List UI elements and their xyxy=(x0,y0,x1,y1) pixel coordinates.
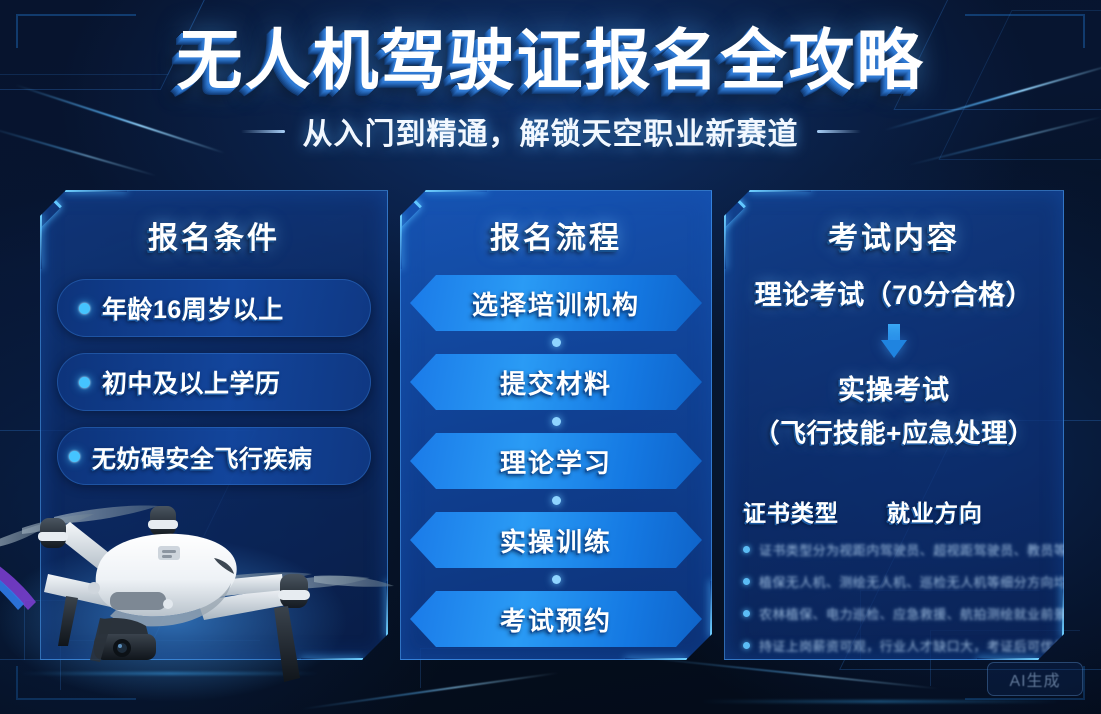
card-exam-content: 考试内容 理论考试（70分合格） 实操考试 （飞行技能+应急处理） 证书类型 就… xyxy=(724,190,1064,660)
process-step[interactable]: 理论学习 xyxy=(407,433,705,489)
bullet-dot-icon xyxy=(743,546,750,553)
step-connector-dot-icon xyxy=(552,417,561,426)
process-step[interactable]: 实操训练 xyxy=(407,512,705,568)
list-item: 持证上岗薪资可观，行业人才缺口大，考证后可优先推荐就业 xyxy=(743,636,1045,655)
process-step[interactable]: 考试预约 xyxy=(407,591,705,647)
exam-fine-print-list: 证书类型分为视距内驾驶员、超视距驾驶员、教员等级 植保无人机、测绘无人机、巡检无… xyxy=(725,540,1063,655)
poster-root: 无人机驾驶证报名全攻略 从入门到精通，解锁天空职业新赛道 报名条件 年龄16周岁… xyxy=(0,0,1101,714)
bevel-accent-icon xyxy=(65,189,127,192)
subtitle-row: 从入门到精通，解锁天空职业新赛道 xyxy=(0,109,1101,153)
condition-label: 初中及以上学历 xyxy=(102,364,281,400)
subcolumn-header-cert-type: 证书类型 xyxy=(743,494,839,528)
subtitle-dash-left xyxy=(241,130,285,133)
card-title-process: 报名流程 xyxy=(401,213,711,257)
list-item: 证书类型分为视距内驾驶员、超视距驾驶员、教员等级 xyxy=(743,540,1045,559)
condition-label: 无妨碍安全飞行疾病 xyxy=(92,439,313,474)
conditions-list: 年龄16周岁以上 初中及以上学历 无妨碍安全飞行疾病 xyxy=(41,279,387,485)
card-title-exam: 考试内容 xyxy=(725,213,1063,257)
exam-practical-detail: （飞行技能+应急处理） xyxy=(739,413,1049,450)
page-title: 无人机驾驶证报名全攻略 xyxy=(0,26,1101,95)
page-subtitle: 从入门到精通，解锁天空职业新赛道 xyxy=(303,109,799,153)
list-item: 农林植保、电力巡检、应急救援、航拍测绘就业前景广阔 xyxy=(743,604,1045,623)
bevel-accent-icon xyxy=(977,658,1039,661)
list-item[interactable]: 年龄16周岁以上 xyxy=(57,279,371,337)
subcolumn-header-career: 就业方向 xyxy=(887,494,983,528)
drone-icon xyxy=(0,470,402,714)
step-label: 选择培训机构 xyxy=(472,285,640,322)
arrow-down-icon xyxy=(881,324,907,358)
bullet-dot-icon xyxy=(743,610,750,617)
watermark-label: AI生成 xyxy=(1009,667,1060,691)
subtitle-dash-right xyxy=(817,130,861,133)
process-step[interactable]: 提交材料 xyxy=(407,354,705,410)
step-connector-dot-icon xyxy=(552,496,561,505)
bullet-dot-icon xyxy=(743,642,750,649)
step-label: 考试预约 xyxy=(500,601,612,638)
exam-practical-label: 实操考试 xyxy=(739,368,1049,407)
exam-content-block: 理论考试（70分合格） 实操考试 （飞行技能+应急处理） xyxy=(725,273,1063,450)
process-step[interactable]: 选择培训机构 xyxy=(407,275,705,331)
step-label: 实操训练 xyxy=(500,522,612,559)
bevel-accent-icon xyxy=(625,658,687,661)
bevel-accent-icon xyxy=(749,189,811,192)
drone-illustration xyxy=(0,470,402,714)
ai-generated-watermark: AI生成 xyxy=(987,662,1083,696)
step-label: 提交材料 xyxy=(500,364,612,401)
exam-theory-label: 理论考试（70分合格） xyxy=(739,273,1049,312)
bullet-dot-icon xyxy=(69,451,80,462)
bevel-accent-icon xyxy=(425,189,487,192)
list-item[interactable]: 初中及以上学历 xyxy=(57,353,371,411)
step-connector-dot-icon xyxy=(552,338,561,347)
exam-subcolumn-headers: 证书类型 就业方向 xyxy=(725,494,1063,528)
poster-header: 无人机驾驶证报名全攻略 从入门到精通，解锁天空职业新赛道 xyxy=(0,0,1101,182)
bullet-dot-icon xyxy=(79,303,90,314)
card-registration-process: 报名流程 选择培训机构 提交材料 理论学习 实操训练 xyxy=(400,190,712,660)
bullet-dot-icon xyxy=(743,578,750,585)
bullet-dot-icon xyxy=(79,377,90,388)
fine-print-label: 农林植保、电力巡检、应急救援、航拍测绘就业前景广阔 xyxy=(759,604,1094,623)
condition-label: 年龄16周岁以上 xyxy=(102,290,284,326)
process-steps-list: 选择培训机构 提交材料 理论学习 实操训练 考试预约 xyxy=(401,275,711,647)
list-item: 植保无人机、测绘无人机、巡检无人机等细分方向均可报考 xyxy=(743,572,1045,591)
fine-print-label: 植保无人机、测绘无人机、巡检无人机等细分方向均可报考 xyxy=(759,572,1101,591)
fine-print-label: 持证上岗薪资可观，行业人才缺口大，考证后可优先推荐就业 xyxy=(759,636,1101,655)
step-connector-dot-icon xyxy=(552,575,561,584)
bg-glow-bar xyxy=(700,700,1060,703)
bg-light-streak xyxy=(641,656,940,689)
step-label: 理论学习 xyxy=(500,443,612,480)
fine-print-label: 证书类型分为视距内驾驶员、超视距驾驶员、教员等级 xyxy=(759,540,1081,559)
card-title-conditions: 报名条件 xyxy=(41,213,387,257)
